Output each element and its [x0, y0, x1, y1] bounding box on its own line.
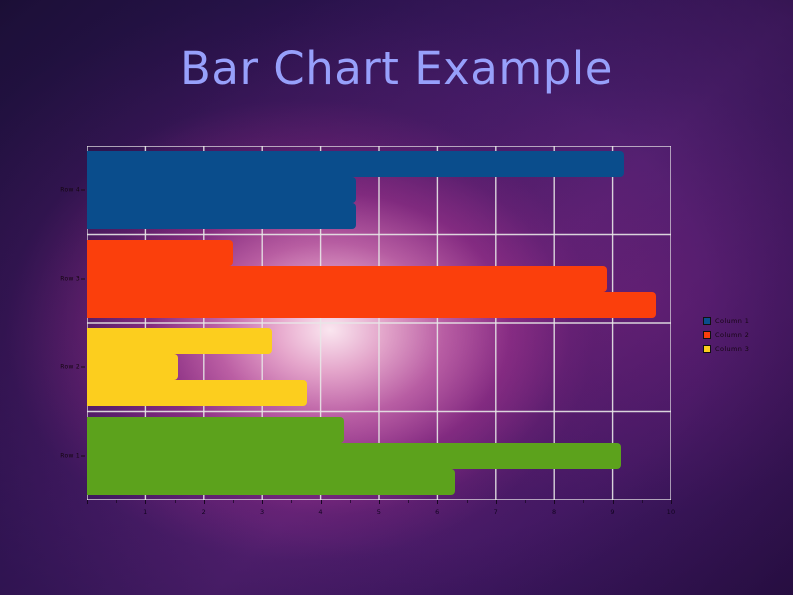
x-axis-tick-label: 7 [494, 508, 498, 516]
chart-title: Bar Chart Example [0, 42, 793, 95]
x-axis-minor-tick-mark [116, 500, 117, 503]
x-axis-minor-tick-mark [467, 500, 468, 503]
legend-item-label: Column 1 [715, 317, 749, 325]
bar [87, 443, 621, 469]
x-axis-tick-mark [437, 500, 438, 504]
y-axis-tick-label: Row 2 [60, 364, 80, 371]
legend-item[interactable]: Column 3 [703, 342, 783, 356]
chart-legend: Column 1Column 2Column 3 [703, 314, 783, 356]
bar [87, 203, 356, 229]
x-axis-tick-mark [496, 500, 497, 504]
plot-area: Row 1Row 2Row 3Row 4 12345678910 [87, 146, 671, 500]
x-axis-tick-mark [145, 500, 146, 504]
x-axis-tick-label: 2 [202, 508, 206, 516]
x-axis-tick-label: 10 [667, 508, 676, 516]
bar [87, 151, 624, 177]
y-axis-tick-label: Row 3 [60, 275, 80, 282]
legend-swatch-icon [703, 331, 711, 339]
x-axis-tick-label: 6 [435, 508, 439, 516]
x-axis-tick-mark [671, 500, 672, 504]
legend-item[interactable]: Column 1 [703, 314, 783, 328]
x-axis-minor-tick-mark [583, 500, 584, 503]
bar [87, 292, 656, 318]
x-axis-minor-tick-mark [525, 500, 526, 503]
legend-swatch-icon [703, 345, 711, 353]
x-axis-tick-mark [204, 500, 205, 504]
bar [87, 354, 178, 380]
y-axis-tick-mark [81, 367, 85, 368]
legend-item-label: Column 2 [715, 331, 749, 339]
legend-item[interactable]: Column 2 [703, 328, 783, 342]
x-axis-minor-tick-mark [642, 500, 643, 503]
x-axis-minor-tick-mark [291, 500, 292, 503]
x-axis-minor-tick-mark [350, 500, 351, 503]
bar [87, 177, 356, 203]
x-axis-tick-mark [379, 500, 380, 504]
y-axis-tick-label: Row 4 [60, 187, 80, 194]
x-axis-minor-tick-mark [408, 500, 409, 503]
bar [87, 328, 272, 354]
x-axis-tick-mark [262, 500, 263, 504]
y-axis-tick-mark [81, 278, 85, 279]
y-axis-tick-mark [81, 455, 85, 456]
bar [87, 469, 455, 495]
bar [87, 240, 233, 266]
x-axis-tick-label: 1 [143, 508, 147, 516]
x-axis-tick-label: 4 [318, 508, 322, 516]
x-axis-tick-label: 5 [377, 508, 381, 516]
x-axis-tick-label: 3 [260, 508, 264, 516]
bar [87, 417, 344, 443]
legend-swatch-icon [703, 317, 711, 325]
x-axis-tick-label: 8 [552, 508, 556, 516]
x-axis-tick-mark [613, 500, 614, 504]
x-axis-minor-tick-mark [175, 500, 176, 503]
x-axis-tick-label: 9 [610, 508, 614, 516]
legend-item-label: Column 3 [715, 345, 749, 353]
x-axis-tick-mark [554, 500, 555, 504]
bar [87, 380, 307, 406]
y-axis-tick-mark [81, 190, 85, 191]
y-axis-tick-label: Row 1 [60, 452, 80, 459]
x-axis-tick-mark [321, 500, 322, 504]
x-axis-minor-tick-mark [233, 500, 234, 503]
x-axis-tick-mark [87, 500, 88, 504]
chart-canvas: Bar Chart Example Row 1Row 2Row 3Row 4 1… [0, 0, 793, 595]
bar [87, 266, 607, 292]
